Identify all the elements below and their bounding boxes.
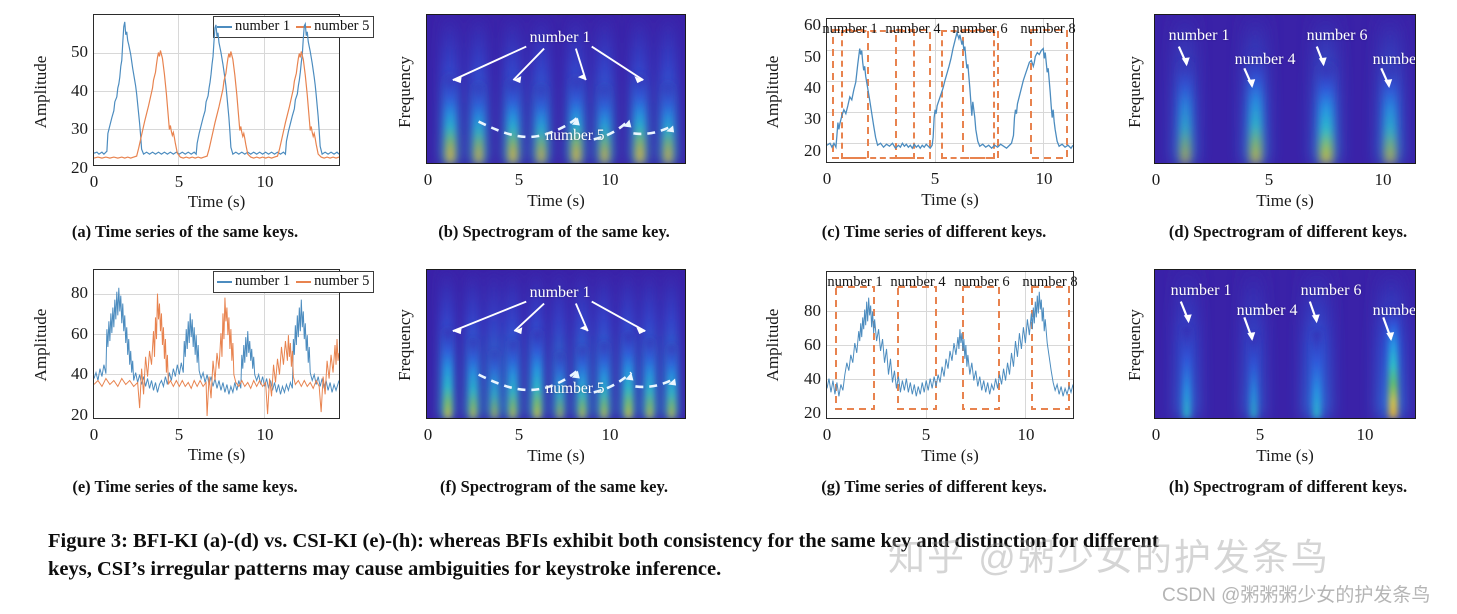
panel-e-xlabel: Time (s) <box>93 445 340 465</box>
panel-c-xtick-10: 10 <box>1036 169 1053 189</box>
panel-e-xtick-5: 5 <box>175 425 184 445</box>
panel-g-ytick-80: 80 <box>783 301 821 321</box>
panel-a-caption: (a) Time series of the same keys. <box>72 222 298 242</box>
panel-c-keylabel-3: number 6 <box>952 21 1007 38</box>
panel-h-xtick-10: 10 <box>1357 425 1374 445</box>
panel-e-xtick-10: 10 <box>257 425 274 445</box>
panel-g-ytick-40: 40 <box>783 369 821 389</box>
panel-c-keylabel-2: number 4 <box>885 21 940 38</box>
panel-a-xlabel: Time (s) <box>93 192 340 212</box>
panel-a-xtick-5: 5 <box>175 172 184 192</box>
panel-d-ylabel: Frequency <box>1125 37 1145 147</box>
panel-d-annot-2: number 4 <box>1235 51 1296 69</box>
panel-c-ytick-20: 20 <box>783 141 821 161</box>
panel-b-ylabel: Frequency <box>395 37 415 147</box>
panel-g-xlabel: Time (s) <box>826 446 1074 466</box>
panel-c-caption: (c) Time series of different keys. <box>822 222 1047 242</box>
legend-label-number-1-e: number 1 <box>235 273 290 290</box>
legend-label-number-5-e: number 5 <box>314 273 369 290</box>
panel-h-annot-4: number 8 <box>1373 302 1416 320</box>
panel-h-xlabel: Time (s) <box>1154 446 1416 466</box>
panel-d-annot-1: number 1 <box>1169 27 1230 45</box>
panel-e: Amplitude number 1 number 5 80 60 40 20 … <box>0 255 364 505</box>
panel-d-xtick-10: 10 <box>1375 170 1392 190</box>
legend-swatch-orange-e <box>296 281 311 283</box>
panel-a-ytick-40: 40 <box>50 81 88 101</box>
panel-e-ytick-80: 80 <box>50 283 88 303</box>
panel-g-ytick-20: 20 <box>783 403 821 423</box>
panel-f-caption: (f) Spectrogram of the same key. <box>440 477 668 497</box>
panel-h-caption: (h) Spectrogram of different keys. <box>1169 477 1407 497</box>
legend-swatch-blue-e <box>217 281 232 283</box>
panel-f-annot-number-1: number 1 <box>530 284 591 302</box>
panel-h-ylabel: Frequency <box>1125 290 1145 400</box>
panel-a-xtick-0: 0 <box>90 172 99 192</box>
panel-c-ytick-40: 40 <box>783 78 821 98</box>
panel-a-ylabel: Amplitude <box>31 37 51 147</box>
panel-c-ytick-30: 30 <box>783 109 821 129</box>
panel-h-annot-2: number 4 <box>1237 302 1298 320</box>
panel-e-xtick-0: 0 <box>90 425 99 445</box>
panel-c-dashbox-2 <box>941 30 995 159</box>
legend-label-number-1: number 1 <box>235 18 290 35</box>
panel-b-xtick-0: 0 <box>424 170 433 190</box>
panel-c-ytick-60: 60 <box>783 15 821 35</box>
panel-b-annot-number-1: number 1 <box>530 29 591 47</box>
panel-d-xtick-0: 0 <box>1152 170 1161 190</box>
panel-f-xtick-5: 5 <box>515 425 524 445</box>
csdn-watermark: CSDN @粥粥粥少女的护发条鸟 <box>1162 580 1430 607</box>
panel-h-annot-1: number 1 <box>1171 282 1232 300</box>
legend-swatch-orange <box>296 26 311 28</box>
panel-c-xlabel: Time (s) <box>826 190 1074 210</box>
panel-f-xlabel: Time (s) <box>426 446 686 466</box>
panel-h: Frequency <box>1092 255 1457 505</box>
panel-c-xtick-0: 0 <box>823 169 832 189</box>
panel-e-caption: (e) Time series of the same keys. <box>72 477 297 497</box>
panel-f-spectrogram: number 1 number 5 <box>426 269 686 419</box>
legend-entry-number-1-e: number 1 <box>217 273 290 290</box>
panel-h-spectrogram: number 1 number 4 number 6 number 8 <box>1154 269 1416 419</box>
panel-a-ytick-20: 20 <box>50 158 88 178</box>
panel-a-xtick-10: 10 <box>257 172 274 192</box>
panel-f: Frequency <box>364 255 728 505</box>
panel-g-keylabel-3: number 6 <box>954 274 1009 291</box>
panel-g-keylabel-4: number 8 <box>1022 274 1077 291</box>
panel-g-xtick-5: 5 <box>922 425 931 445</box>
panel-g-caption: (g) Time series of different keys. <box>821 477 1046 497</box>
panel-g-ylabel: Amplitude <box>763 290 783 400</box>
panel-b-xlabel: Time (s) <box>426 191 686 211</box>
panel-c-xtick-5: 5 <box>931 169 940 189</box>
panel-f-ylabel: Frequency <box>395 290 415 400</box>
panel-c-dashbox-1 <box>841 30 915 159</box>
panel-f-xtick-0: 0 <box>424 425 433 445</box>
legend-label-number-5: number 5 <box>314 18 369 35</box>
panel-b-spectrogram: number 1 number 5 <box>426 14 686 164</box>
panel-c-ylabel: Amplitude <box>763 37 783 147</box>
panel-d-spectrogram: number 1 number 4 number 6 number 8 <box>1154 14 1416 164</box>
panel-h-xtick-0: 0 <box>1152 425 1161 445</box>
panel-c: Amplitude number 1 numbe <box>728 0 1092 250</box>
panel-c-keylabel-4: number 8 <box>1020 21 1075 38</box>
panel-e-ylabel: Amplitude <box>31 290 51 400</box>
legend-entry-number-5-e: number 5 <box>296 273 369 290</box>
panel-a-ytick-30: 30 <box>50 119 88 139</box>
panel-e-ytick-40: 40 <box>50 364 88 384</box>
panel-g: Amplitude number 1 number 4 number 6 num… <box>728 255 1092 505</box>
panel-b: Frequency <box>364 0 728 250</box>
panel-a-legend: number 1 number 5 <box>213 16 374 38</box>
panel-e-ytick-20: 20 <box>50 405 88 425</box>
panel-h-annot-3: number 6 <box>1301 282 1362 300</box>
panel-d-annot-3: number 6 <box>1307 27 1368 45</box>
panel-h-xtick-5: 5 <box>1256 425 1265 445</box>
panel-c-keylabel-1: number 1 <box>822 21 877 38</box>
panel-g-keylabel-1: number 1 <box>827 274 882 291</box>
panel-e-legend: number 1 number 5 <box>213 271 374 293</box>
panel-d: Frequency <box>1092 0 1457 250</box>
figure-3: Amplitude number 1 number 5 50 40 30 20 … <box>0 0 1457 614</box>
zhihu-watermark: 知乎 @粥少女的护发条鸟 <box>888 527 1330 581</box>
panel-g-xtick-0: 0 <box>823 425 832 445</box>
panel-d-xtick-5: 5 <box>1265 170 1274 190</box>
panel-b-caption: (b) Spectrogram of the same key. <box>438 222 670 242</box>
panel-b-xtick-5: 5 <box>515 170 524 190</box>
panel-g-xtick-10: 10 <box>1018 425 1035 445</box>
panel-f-xtick-10: 10 <box>602 425 619 445</box>
panel-b-annot-number-5: number 5 <box>546 127 605 145</box>
legend-swatch-blue <box>217 26 232 28</box>
legend-entry-number-1: number 1 <box>217 18 290 35</box>
panel-e-ytick-60: 60 <box>50 324 88 344</box>
panel-d-annot-4: number 8 <box>1373 51 1416 69</box>
panel-d-xlabel: Time (s) <box>1154 191 1416 211</box>
panel-g-ytick-60: 60 <box>783 335 821 355</box>
panel-a: Amplitude number 1 number 5 50 40 30 20 … <box>0 0 364 250</box>
panel-a-ytick-50: 50 <box>50 42 88 62</box>
panel-b-xtick-10: 10 <box>602 170 619 190</box>
legend-entry-number-5: number 5 <box>296 18 369 35</box>
panel-c-ytick-50: 50 <box>783 47 821 67</box>
panel-f-annot-number-5: number 5 <box>546 380 605 398</box>
panel-d-caption: (d) Spectrogram of different keys. <box>1169 222 1407 242</box>
panel-c-plot <box>826 18 1074 163</box>
panel-g-plot <box>826 271 1074 419</box>
panel-g-keylabel-2: number 4 <box>890 274 945 291</box>
